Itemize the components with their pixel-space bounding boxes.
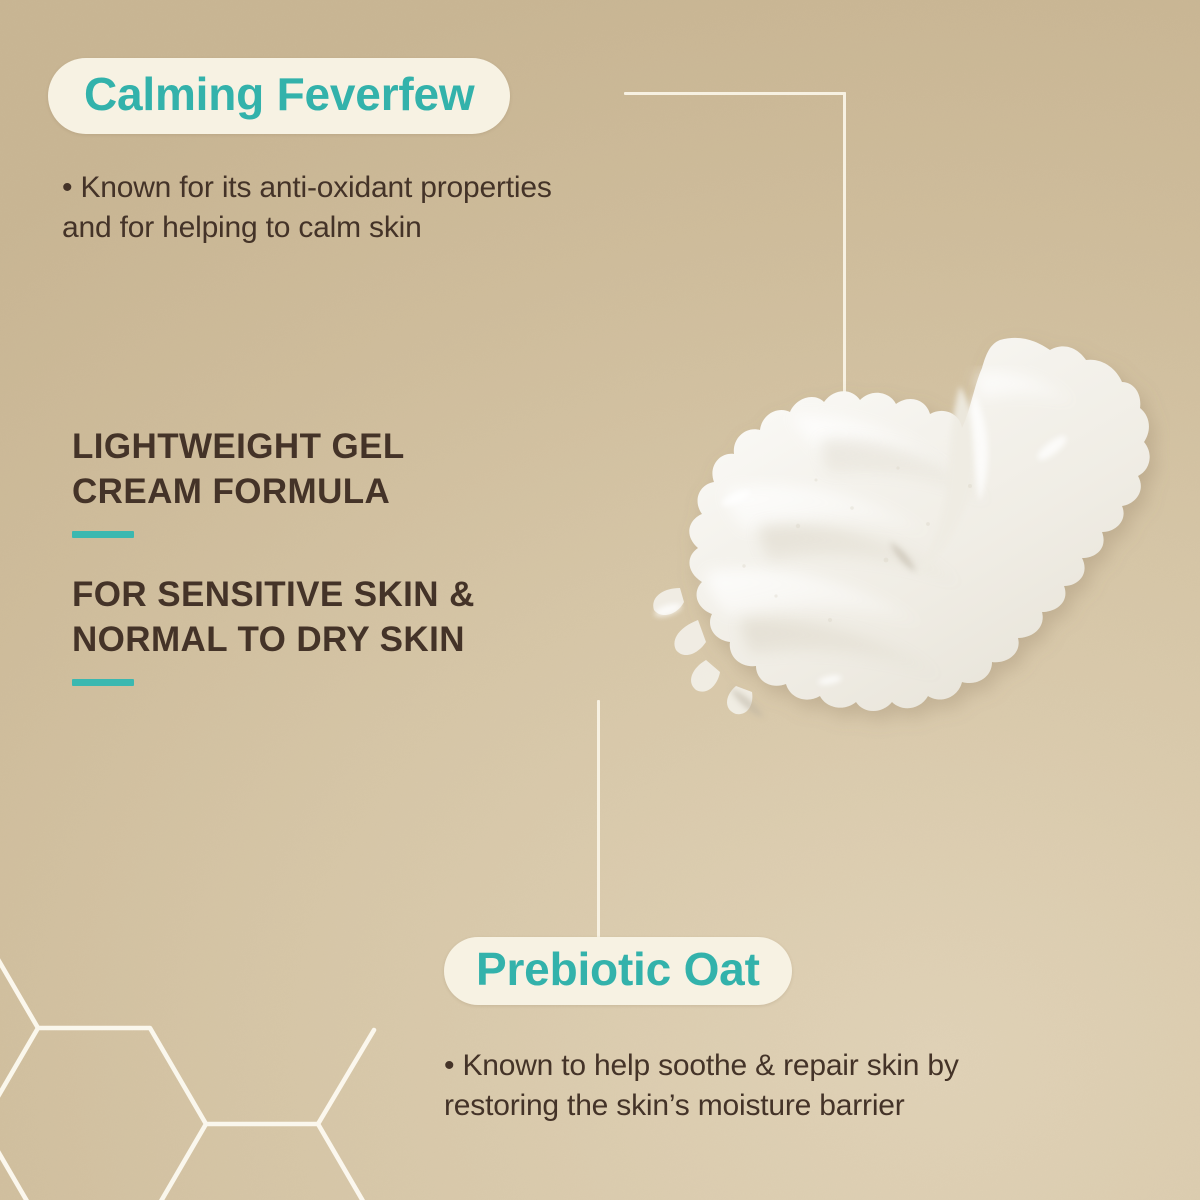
callout-pill-label: Calming Feverfew	[84, 71, 474, 121]
cream-swatch	[530, 320, 1170, 820]
feature-title: LIGHTWEIGHT GEL CREAM FORMULA	[72, 425, 405, 515]
connector-line-feverfew-horizontal	[624, 92, 846, 95]
feature-accent-rule	[72, 679, 134, 686]
infographic-canvas: Calming Feverfew • Known for its anti-ox…	[0, 0, 1200, 1200]
callout-bullet-prebiotic-oat: • Known to help soothe & repair skin by …	[444, 1046, 1156, 1126]
feature-accent-rule	[72, 531, 134, 538]
feature-title: FOR SENSITIVE SKIN & NORMAL TO DRY SKIN	[72, 573, 475, 663]
callout-pill-label: Prebiotic Oat	[476, 946, 760, 996]
callout-pill-calming-feverfew[interactable]: Calming Feverfew	[48, 58, 510, 134]
feature-for-sensitive-skin: FOR SENSITIVE SKIN & NORMAL TO DRY SKIN	[72, 573, 475, 686]
callout-pill-prebiotic-oat[interactable]: Prebiotic Oat	[444, 937, 792, 1005]
hexagon-pattern-icon	[0, 900, 380, 1200]
callout-bullet-calming-feverfew: • Known for its anti-oxidant properties …	[62, 168, 762, 248]
feature-lightweight-gel-cream-formula: LIGHTWEIGHT GEL CREAM FORMULA	[72, 425, 405, 538]
